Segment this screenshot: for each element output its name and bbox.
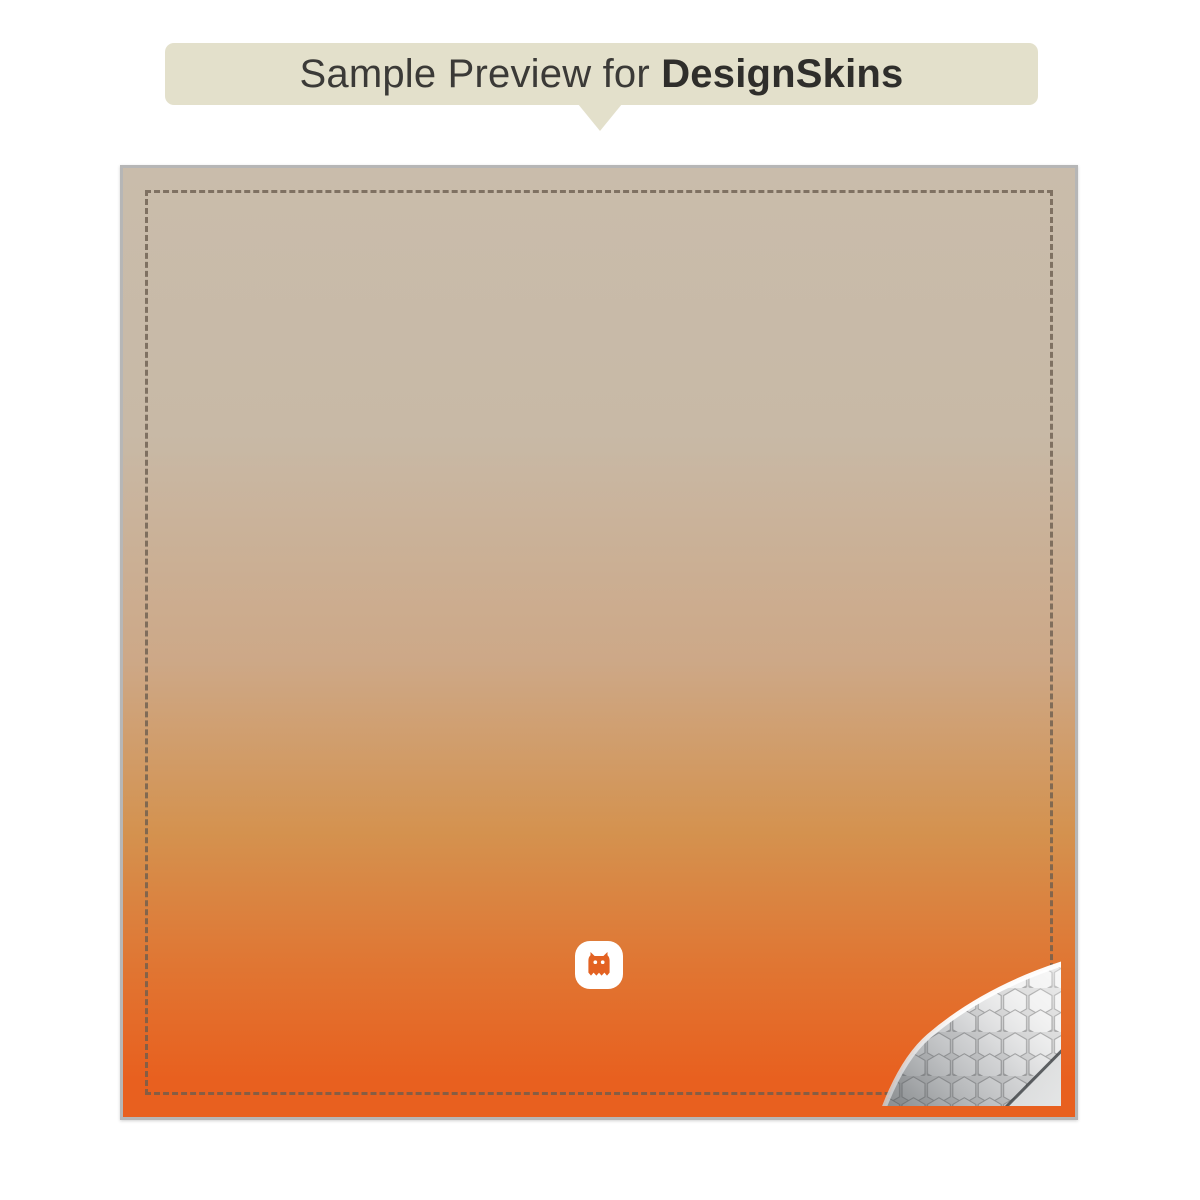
callout-tail-icon — [578, 104, 622, 131]
callout-label-brand: DesignSkins — [661, 52, 903, 96]
callout-label-regular: Sample Preview for — [300, 52, 662, 96]
sticker-sheet[interactable] — [120, 165, 1078, 1120]
designskins-monster-badge-icon — [575, 941, 623, 989]
peeling-corner-graphic — [723, 768, 1061, 1106]
peel-cast-shadow — [850, 940, 1061, 1106]
preview-stage: Sample Preview for DesignSkins — [0, 0, 1200, 1200]
peel-fold-seam — [850, 940, 1061, 1106]
peel-backing-triangle — [850, 940, 1061, 1106]
peel-flap — [850, 940, 1061, 1106]
sample-preview-callout: Sample Preview for DesignSkins — [165, 43, 1038, 105]
peel-curl-highlight — [850, 940, 1061, 1106]
callout-label: Sample Preview for DesignSkins — [300, 54, 904, 94]
